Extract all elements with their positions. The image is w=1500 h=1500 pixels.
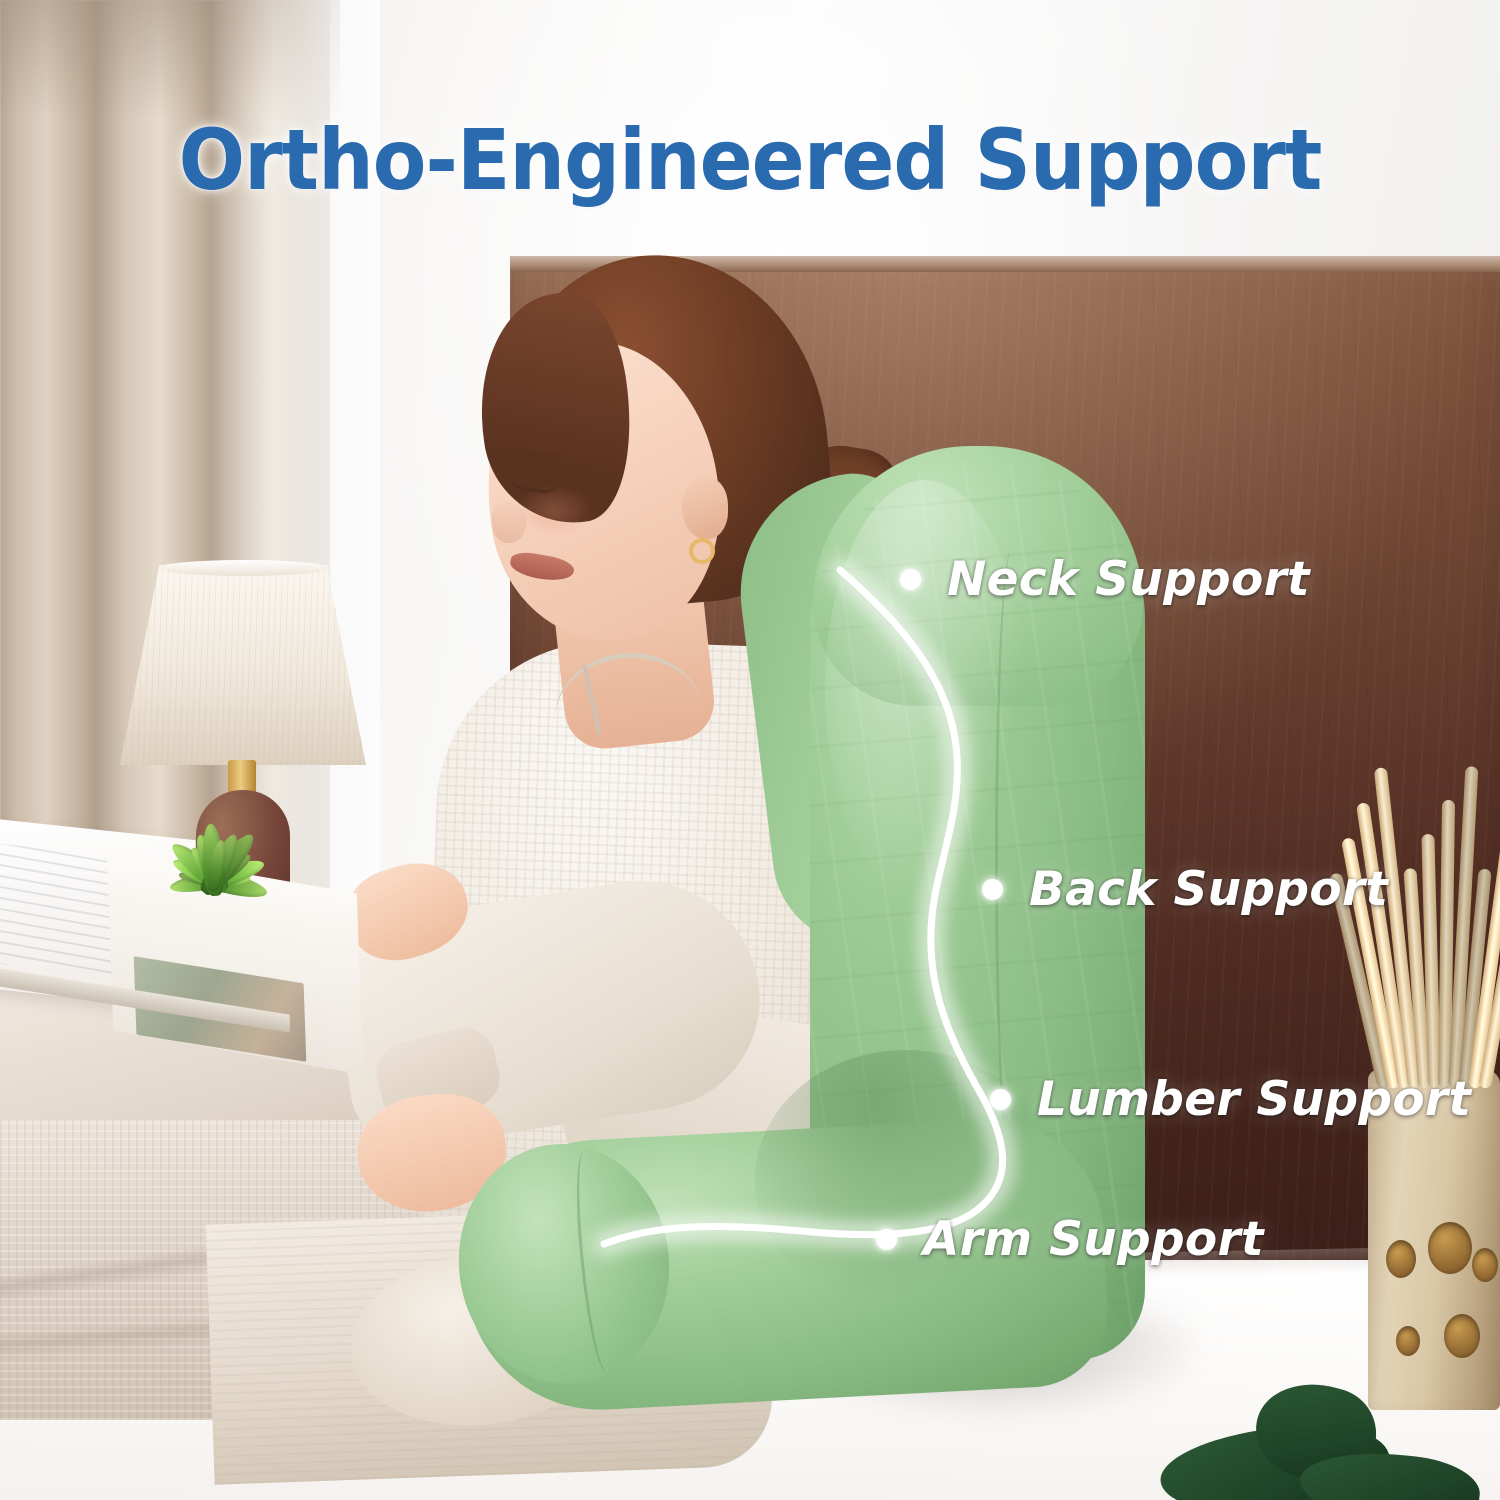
product-marketing-image: Ortho-Engineered Support Neck Support Ba… [0,0,1500,1500]
sculpture-drilled-hole [1444,1314,1480,1358]
callout-lumber-support: Lumber Support [990,1072,1471,1127]
callout-label: Lumber Support [1037,1072,1471,1127]
callout-label: Back Support [1029,862,1388,917]
page-title: Ortho-Engineered Support [53,118,1448,202]
callout-label: Neck Support [947,552,1310,607]
sculpture-drilled-hole [1472,1248,1498,1282]
callout-label: Arm Support [923,1212,1264,1267]
bullet-dot-icon [900,569,921,590]
callout-neck-support: Neck Support [900,552,1310,607]
bullet-dot-icon [982,879,1003,900]
pillow-highlight-sheen [825,480,1025,900]
sculpture-drilled-hole [1396,1326,1420,1356]
callout-back-support: Back Support [982,862,1388,917]
callout-arm-support: Arm Support [876,1212,1264,1267]
sculpture-drilled-hole [1386,1240,1416,1278]
monstera-plant [1160,1370,1500,1500]
bullet-dot-icon [876,1229,897,1250]
bullet-dot-icon [990,1089,1011,1110]
sculpture-drilled-hole [1428,1222,1472,1274]
